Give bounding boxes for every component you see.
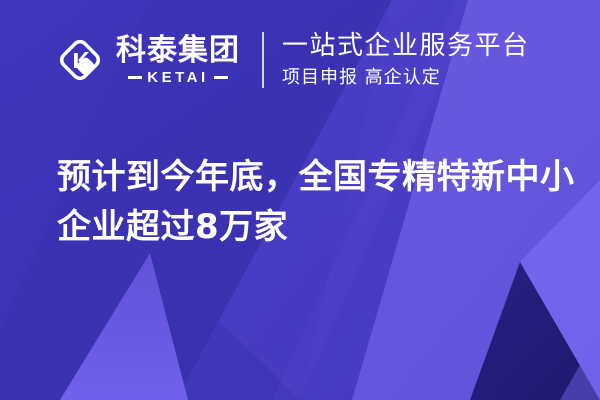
tagline-secondary: 项目申报 高企认定 xyxy=(282,69,530,87)
ketai-diamond-k-logo-icon xyxy=(55,35,105,85)
tagline-primary: 一站式企业服务平台 xyxy=(282,33,530,59)
brand-wordmark: 科泰集团 KETAI xyxy=(116,36,240,85)
brand-logo[interactable]: 科泰集团 KETAI xyxy=(55,35,240,85)
brand-name-en: KETAI xyxy=(147,70,208,85)
headline-block: 预计到今年底，全国专精特新中小 企业超过8万家 xyxy=(57,152,567,252)
headline-line-2: 企业超过8万家 xyxy=(57,202,567,252)
header-divider xyxy=(262,32,264,88)
banner-header: 科泰集团 KETAI 一站式企业服务平台 项目申报 高企认定 xyxy=(0,0,600,120)
brand-name-cn: 科泰集团 xyxy=(116,36,240,66)
wordmark-dash-right xyxy=(214,76,228,79)
wordmark-dash-left xyxy=(128,76,142,79)
headline-line-1: 预计到今年底，全国专精特新中小 xyxy=(57,152,567,202)
brand-tagline: 一站式企业服务平台 项目申报 高企认定 xyxy=(282,33,530,87)
promo-banner: 科泰集团 KETAI 一站式企业服务平台 项目申报 高企认定 预计到今年底，全国… xyxy=(0,0,600,400)
brand-name-en-row: KETAI xyxy=(128,70,227,85)
